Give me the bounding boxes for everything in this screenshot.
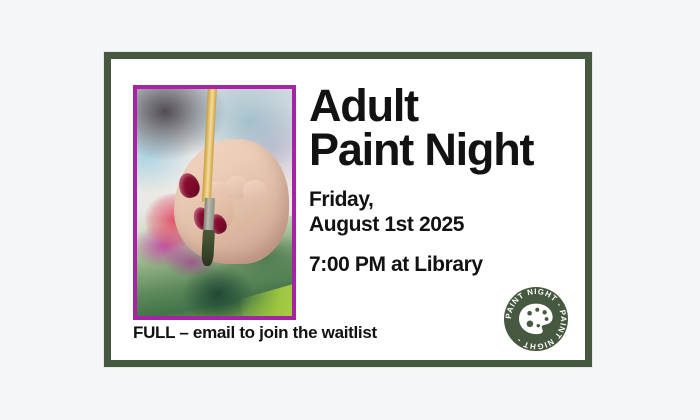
event-date-block: Friday, August 1st 2025 bbox=[309, 187, 575, 238]
event-date: August 1st 2025 bbox=[309, 212, 575, 238]
paint-night-stamp-badge: PAINT NIGHT - PAINT NIGHT - bbox=[504, 287, 568, 351]
waitlist-status-note: FULL – email to join the waitlist bbox=[133, 323, 377, 343]
photo-knuckle bbox=[243, 180, 267, 202]
hand-holding-paintbrush-photo bbox=[137, 89, 292, 316]
event-time-and-location: 7:00 PM at Library bbox=[309, 252, 575, 278]
event-photo-frame bbox=[133, 85, 296, 320]
event-title-line-1: Adult bbox=[309, 83, 575, 129]
flyer-inner-surface: Adult Paint Night Friday, August 1st 202… bbox=[111, 59, 585, 360]
event-flyer-card: Adult Paint Night Friday, August 1st 202… bbox=[104, 52, 592, 367]
event-title-line-2: Paint Night bbox=[309, 127, 575, 173]
photo-canvas-edge bbox=[238, 281, 292, 316]
flyer-text-column: Adult Paint Night Friday, August 1st 202… bbox=[309, 83, 575, 278]
event-day-of-week: Friday, bbox=[309, 187, 575, 213]
